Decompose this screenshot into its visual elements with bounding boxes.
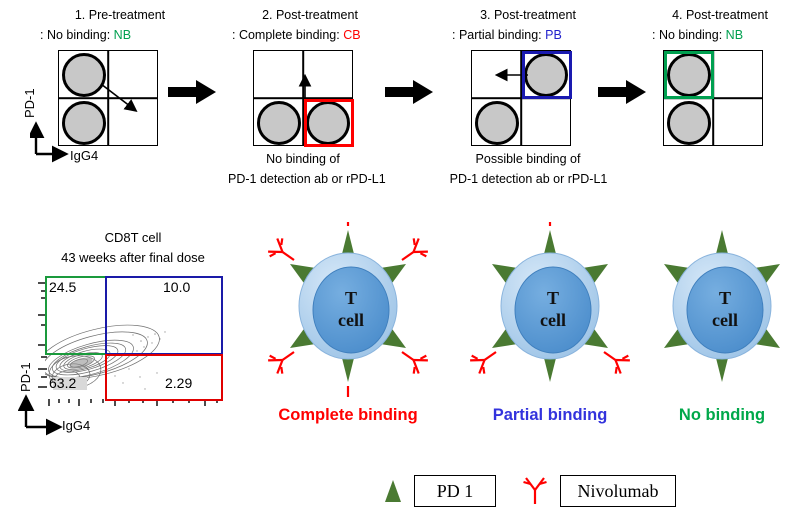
flow-quadrant-value-upper-right: 10.0 xyxy=(163,279,190,295)
panel-3-subtitle-prefix: : Partial binding: xyxy=(452,28,545,42)
flow-plot-title-line1: CD8T cell xyxy=(45,230,221,245)
panel-1-subtitle-prefix: : No binding: xyxy=(40,28,114,42)
panel-2-title: 2. Post-treatment xyxy=(230,8,390,22)
legend-nivolumab-antibody-icon xyxy=(522,476,548,506)
flow-plot-x-axis-label: IgG4 xyxy=(62,418,90,433)
population-dot-lower-left xyxy=(667,101,711,145)
figure-root: 1. Pre-treatment : No binding: NB PD-1 I… xyxy=(0,0,793,525)
legend-nivolumab-label: Nivolumab xyxy=(578,481,659,502)
svg-text:cell: cell xyxy=(338,310,364,330)
svg-text:T: T xyxy=(345,288,357,308)
panel-3-highlight-gate-pb xyxy=(522,51,572,99)
tcell-graphic: T cell xyxy=(470,222,630,397)
panel-1-title: 1. Pre-treatment xyxy=(40,8,200,22)
panel-1-x-axis-label: IgG4 xyxy=(70,148,98,163)
panel-3-footnote-line2: PD-1 detection ab or rPD-L1 xyxy=(446,170,611,188)
panel-3-footnote-line1: Possible binding of xyxy=(448,150,608,168)
flow-arrow-2 xyxy=(385,78,437,106)
legend-pd1-triangle-icon xyxy=(382,478,404,504)
panel-1-title-group: 1. Pre-treatment xyxy=(40,8,200,22)
panel-2-footnote-line2: PD-1 detection ab or rPD-L1 xyxy=(228,170,378,188)
population-dot-lower-left xyxy=(475,101,519,145)
flow-plot-title-line2: 43 weeks after final dose xyxy=(25,250,241,265)
panel-2-footnote-line1: No binding of xyxy=(233,150,373,168)
svg-text:T: T xyxy=(547,288,559,308)
panel-1-subtitle: : No binding: NB xyxy=(40,28,131,42)
panel-4-quadrant-chart xyxy=(663,50,763,146)
panel-4-title: 4. Post-treatment xyxy=(640,8,793,22)
panel-2-title-group: 2. Post-treatment xyxy=(230,8,390,22)
panel-4-title-group: 4. Post-treatment xyxy=(640,8,793,22)
panel-3-subtitle-accent: PB xyxy=(545,28,562,42)
legend-pd1-label: PD 1 xyxy=(437,481,474,502)
panel-3-subtitle: : Partial binding: PB xyxy=(452,28,562,42)
panel-1-subtitle-accent: NB xyxy=(114,28,131,42)
panel-2-subtitle: : Complete binding: CB xyxy=(232,28,361,42)
population-dot-lower-left xyxy=(257,101,301,145)
svg-text:cell: cell xyxy=(712,310,738,330)
flow-plot-y-axis-label: PD-1 xyxy=(18,362,33,392)
panel-1-y-axis-label: PD-1 xyxy=(22,88,37,118)
flow-quadrant-value-lower-left: 63.2 xyxy=(49,375,76,391)
panel-4-subtitle-accent: NB xyxy=(726,28,743,42)
panel-4-subtitle: : No binding: NB xyxy=(652,28,743,42)
flow-cytometry-plot[interactable]: 24.5 10.0 63.2 2.29 xyxy=(45,277,221,401)
panel-1-shift-arrow xyxy=(95,78,165,126)
tcell-label-partial-binding: Partial binding xyxy=(470,406,630,425)
flow-quadrant-value-lower-right: 2.29 xyxy=(165,375,192,391)
panel-2-subtitle-prefix: : Complete binding: xyxy=(232,28,343,42)
svg-text:cell: cell xyxy=(540,310,566,330)
tcell-graphic: T cell xyxy=(268,222,428,397)
flow-gate-lower-right[interactable] xyxy=(105,354,223,401)
tcell-diagram-no-binding: T cell xyxy=(642,222,793,397)
tcell-label-no-binding: No binding xyxy=(642,406,793,425)
panel-2-highlight-gate-cb xyxy=(304,99,354,147)
tcell-label-complete-binding: Complete binding xyxy=(268,406,428,425)
panel-3-title: 3. Post-treatment xyxy=(448,8,608,22)
panel-4-subtitle-prefix: : No binding: xyxy=(652,28,726,42)
flow-arrow-3 xyxy=(598,78,650,106)
panel-2-subtitle-accent: CB xyxy=(343,28,360,42)
flow-quadrant-value-upper-left: 24.5 xyxy=(49,279,76,295)
panel-3-title-group: 3. Post-treatment xyxy=(448,8,608,22)
tcell-diagram-partial-binding: T cell xyxy=(470,222,630,397)
legend-pd1-label-box: PD 1 xyxy=(414,475,496,507)
flow-arrow-1 xyxy=(168,78,220,106)
tcell-graphic: T cell xyxy=(642,222,793,397)
panel-4-highlight-gate-nb xyxy=(664,51,714,99)
svg-text:T: T xyxy=(719,288,731,308)
tcell-diagram-complete-binding: T cell xyxy=(268,222,428,397)
legend-nivolumab-label-box: Nivolumab xyxy=(560,475,676,507)
